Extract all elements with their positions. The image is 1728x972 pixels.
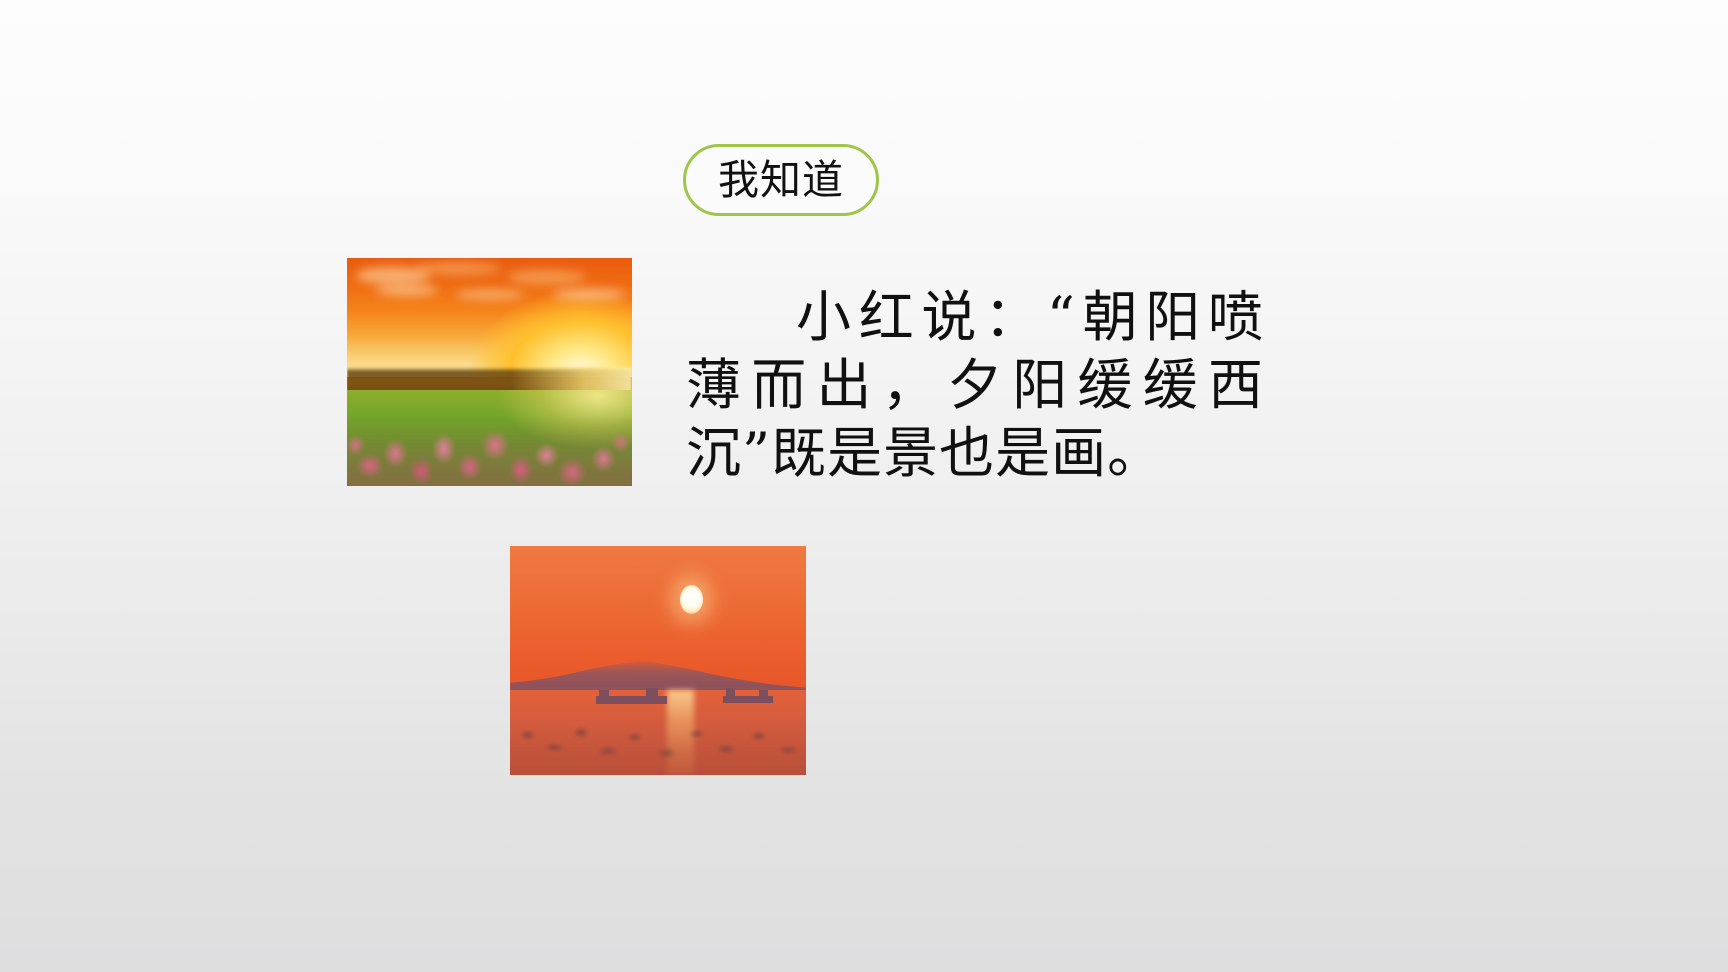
ship-silhouette bbox=[726, 688, 735, 695]
sunset-sea-photo bbox=[510, 546, 806, 775]
meadow-sky bbox=[347, 258, 632, 377]
sea-foreground-debris bbox=[510, 720, 806, 770]
cloud-icon bbox=[415, 262, 501, 275]
ship-silhouette bbox=[646, 688, 658, 696]
ship-silhouette bbox=[723, 696, 773, 703]
title-badge-label: 我知道 bbox=[718, 160, 844, 201]
sunrise-meadow-photo bbox=[347, 258, 632, 486]
sun-icon bbox=[680, 585, 703, 614]
ship-silhouette bbox=[759, 690, 768, 695]
cloud-icon bbox=[455, 290, 523, 299]
cloud-icon bbox=[376, 284, 439, 296]
meadow-treeline bbox=[347, 367, 632, 392]
title-badge: 我知道 bbox=[683, 144, 879, 216]
slide-canvas: 我知道 小红说：“朝阳喷薄而出，夕阳缓缓西沉”既是景也是画。 bbox=[0, 0, 1728, 972]
ship-silhouette bbox=[596, 696, 667, 704]
body-paragraph: 小红说：“朝阳喷薄而出，夕阳缓缓西沉”既是景也是画。 bbox=[686, 283, 1264, 487]
meadow-pink-flowers bbox=[347, 418, 632, 486]
cloud-icon bbox=[552, 289, 626, 300]
ship-silhouette bbox=[599, 690, 609, 696]
cloud-icon bbox=[507, 270, 587, 284]
